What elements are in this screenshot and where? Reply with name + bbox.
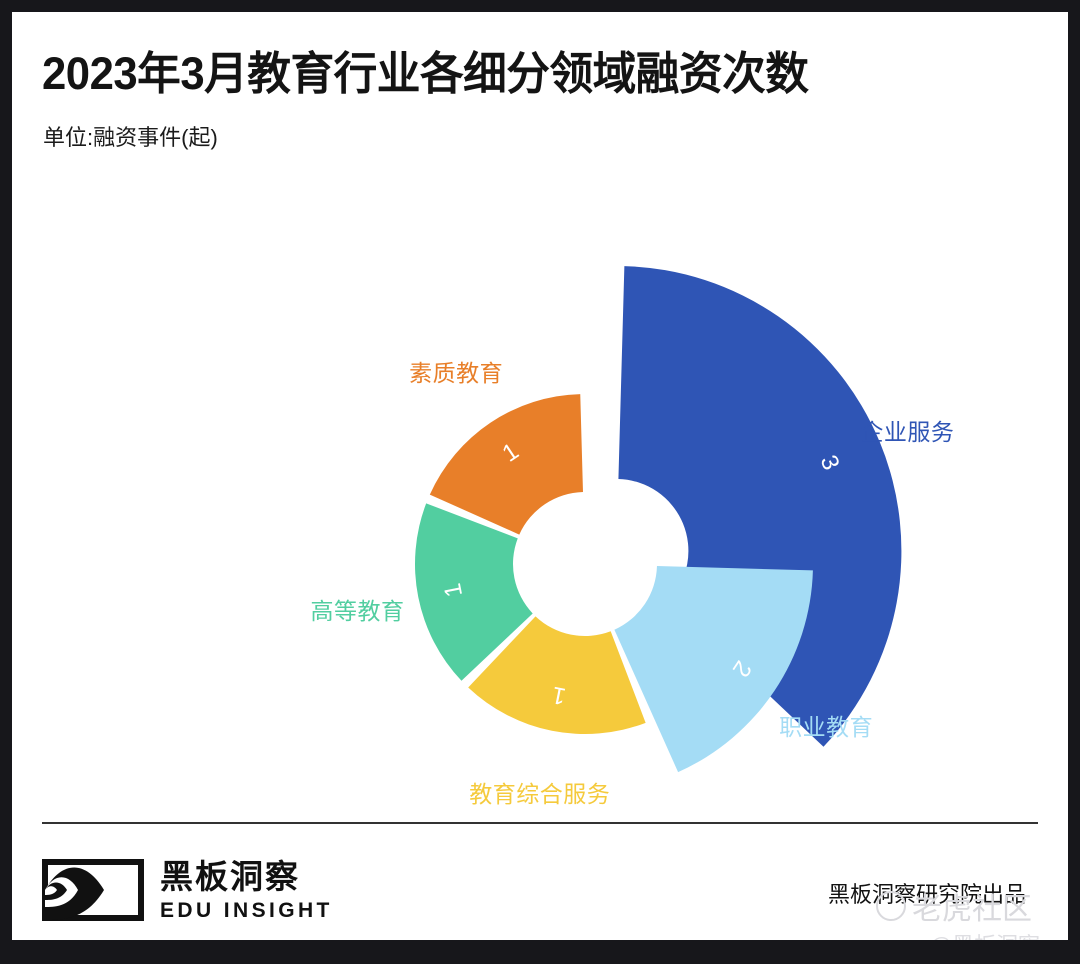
brand-lockup: 黑板洞察 EDU INSIGHT (42, 859, 333, 921)
chart-unit-subtitle: 单位:融资事件(起) (43, 120, 218, 152)
infographic-card: 2023年3月教育行业各细分领域融资次数 单位:融资事件(起) 3 1 1 1 … (12, 12, 1068, 940)
brand-text: 黑板洞察 EDU INSIGHT (160, 860, 333, 921)
footer-divider (42, 822, 1038, 824)
producer-credit: 黑板洞察研究院出品 (828, 877, 1026, 909)
footer: 黑板洞察 EDU INSIGHT 黑板洞察研究院出品 (12, 837, 1068, 937)
image-border: 2023年3月教育行业各细分领域融资次数 单位:融资事件(起) 3 1 1 1 … (0, 0, 1080, 964)
slice-label-enterprise-service: 企业服务 (860, 413, 954, 447)
slice-label-quality-education: 素质教育 (409, 354, 503, 388)
pie-chart: 3 1 1 1 2 企业服务 素质教育 高等教育 教育综合服务 职业教育 (12, 162, 1068, 802)
page-title: 2023年3月教育行业各细分领域融资次数 (42, 37, 808, 102)
slice-label-comprehensive-education-service: 教育综合服务 (469, 775, 610, 809)
brand-name-cn: 黑板洞察 (160, 860, 333, 893)
slice-label-higher-education: 高等教育 (310, 592, 404, 626)
pie-chart-svg: 3 1 1 1 2 (12, 162, 1068, 802)
slice-label-vocational-education: 职业教育 (779, 708, 873, 742)
brand-name-en: EDU INSIGHT (160, 900, 333, 921)
pie-slices (415, 266, 901, 772)
eye-logo-icon (42, 859, 144, 921)
